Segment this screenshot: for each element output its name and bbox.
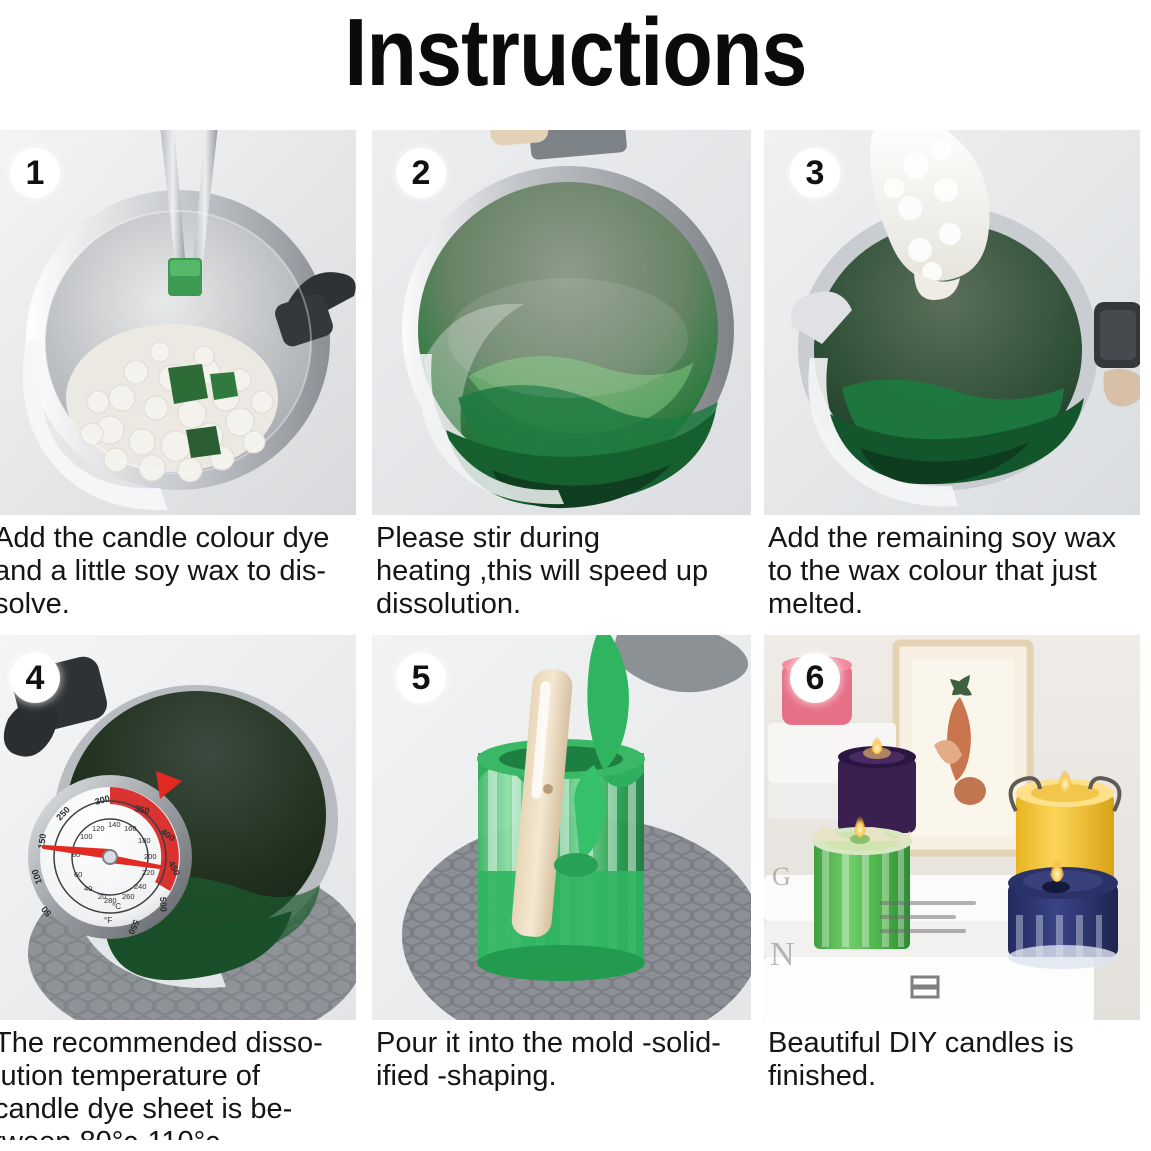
therm-f-tick: 500 [158, 897, 169, 912]
step-caption: Add the candle colour dye and a little s… [0, 522, 366, 621]
therm-unit-fahrenheit: °F [104, 916, 112, 925]
step-2-photo: 2 [372, 130, 751, 515]
therm-c-tick: 160 [124, 824, 137, 833]
step-card-2: 2 Please stir during heating ,this will … [368, 130, 758, 635]
therm-unit-celsius: °C [112, 902, 121, 911]
step-card-5: 5 Pour it into the mold -solid- ified -s… [368, 635, 758, 1140]
step-card-3: 3 Add the remaining soy wax to the wax c… [758, 130, 1151, 635]
therm-c-tick: 60 [74, 870, 82, 879]
step-card-4: 250 300 350 400 450 500 550 50 100 150 [0, 635, 368, 1140]
step-6-photo: N G 6 [764, 635, 1140, 1020]
step-card-6: N G 6 Beautiful DIY candles is finished. [758, 635, 1151, 1140]
therm-c-tick: 40 [84, 884, 92, 893]
therm-c-tick: 240 [134, 882, 147, 891]
step-number-badge: 3 [790, 148, 840, 198]
step-number-badge: 4 [10, 653, 60, 703]
step-5-photo: 5 [372, 635, 751, 1020]
step-card-1: 1 Add the candle colour dye and a little… [0, 130, 368, 635]
step-caption: Please stir during heating ,this will sp… [376, 522, 758, 621]
page-title: Instructions [81, 0, 1071, 112]
step-number-badge: 1 [10, 148, 60, 198]
svg-text:G: G [772, 862, 791, 891]
steps-grid: 1 Add the candle colour dye and a little… [0, 130, 1151, 1151]
svg-text:N: N [770, 936, 795, 973]
step-number-badge: 2 [396, 148, 446, 198]
therm-c-tick: 140 [108, 820, 121, 829]
therm-c-tick: 200 [144, 852, 157, 861]
instructions-infographic: Instructions [0, 0, 1151, 1151]
step-number-badge: 6 [790, 653, 840, 703]
therm-c-tick: 220 [142, 868, 155, 877]
step-3-photo: 3 [764, 130, 1140, 515]
therm-c-tick: 100 [80, 832, 93, 841]
step-caption: The recommended disso- lution temperatur… [0, 1027, 366, 1140]
therm-c-tick: 180 [138, 836, 151, 845]
step-caption: Add the remaining soy wax to the wax col… [768, 522, 1148, 621]
therm-c-tick: 120 [92, 824, 105, 833]
step-4-photo: 250 300 350 400 450 500 550 50 100 150 [0, 635, 356, 1020]
step-1-photo: 1 [0, 130, 356, 515]
step-number-badge: 5 [396, 653, 446, 703]
step-caption: Pour it into the mold -solid- ified -sha… [376, 1027, 758, 1093]
step-caption: Beautiful DIY candles is finished. [768, 1027, 1148, 1093]
therm-c-tick: 20 [98, 892, 106, 901]
therm-c-tick: 260 [122, 892, 135, 901]
